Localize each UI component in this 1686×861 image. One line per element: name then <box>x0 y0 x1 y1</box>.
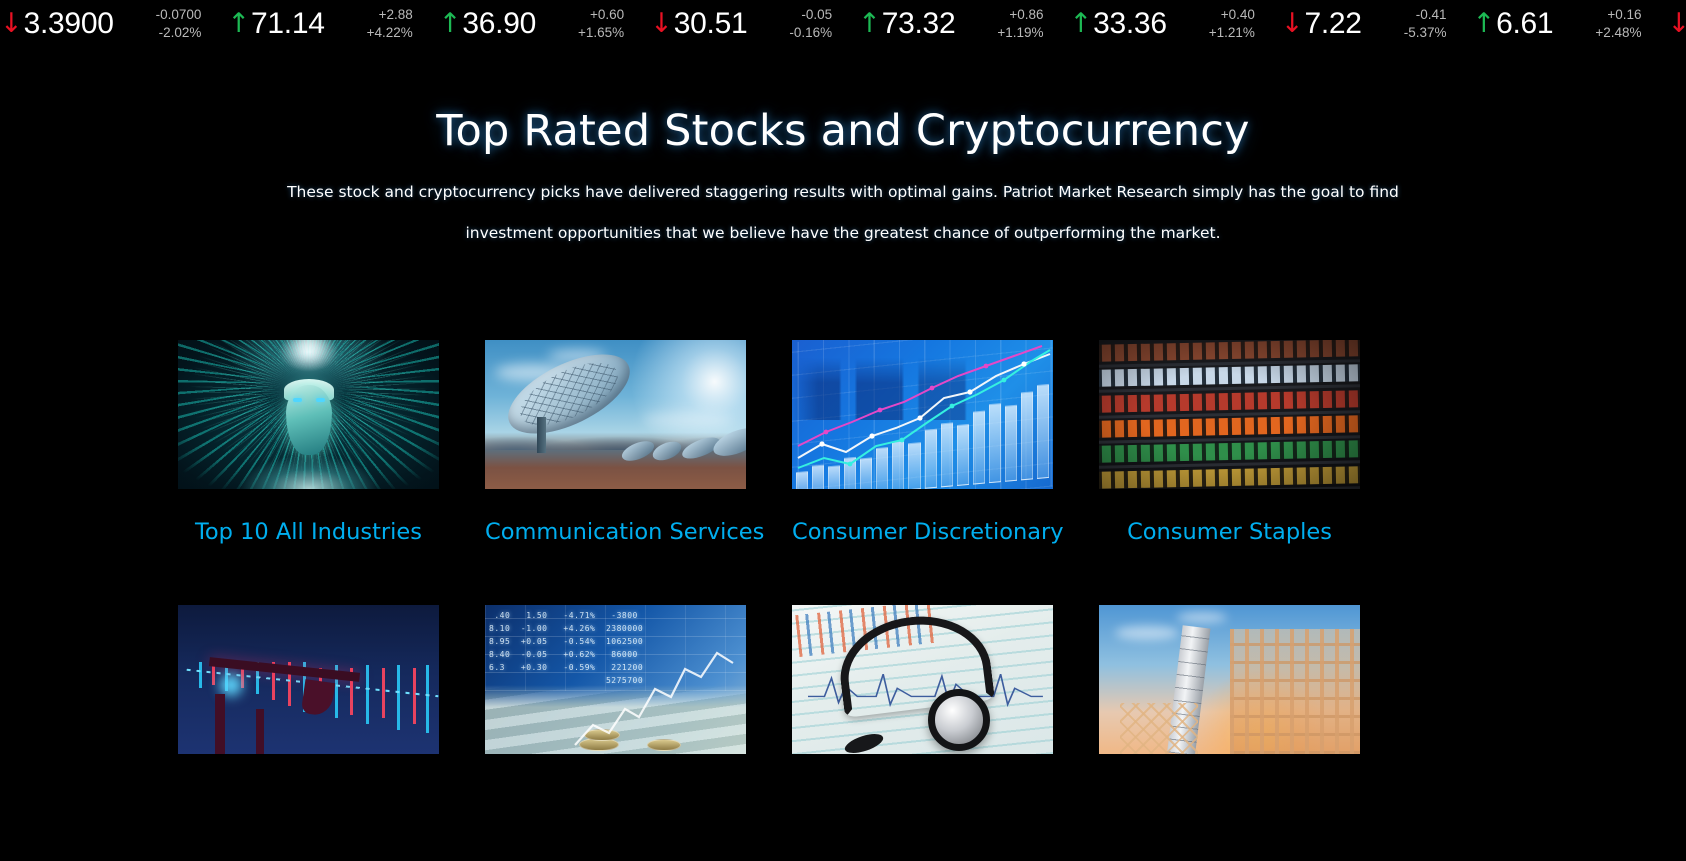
ticker-item[interactable]: ↑ 6.61 <box>1472 0 1553 47</box>
category-card-consumer-discretionary[interactable]: Consumer Discretionary <box>792 340 1053 546</box>
ai-robot-head-image[interactable] <box>178 340 439 489</box>
category-card-label[interactable]: Top 10 All Industries <box>178 519 439 546</box>
ticker-change: +0.40 <box>1221 6 1255 24</box>
up-arrow-icon: ↑ <box>439 10 462 37</box>
ticker-change-block: +0.86 +1.19% <box>997 6 1043 42</box>
chart-lines <box>792 340 1053 489</box>
ticker-change: -0.41 <box>1416 6 1447 24</box>
category-card-top-10-all-industries[interactable]: Top 10 All Industries <box>178 340 439 546</box>
ticker-percent: +4.22% <box>367 24 413 42</box>
category-card-energy[interactable] <box>178 605 439 784</box>
ticker-percent: -2.02% <box>159 24 202 42</box>
category-card-health-care[interactable] <box>792 605 1053 784</box>
ticker-percent: +1.19% <box>997 24 1043 42</box>
ticker-price: 3.3900 <box>24 9 114 39</box>
ticker-price: 73.32 <box>882 9 956 39</box>
ticker-price: 6.61 <box>1496 9 1553 39</box>
page-subtitle-line-2: investment opportunities that we believe… <box>0 213 1686 254</box>
satellite-dishes-image[interactable] <box>485 340 746 489</box>
financial-board-money-image[interactable]: .40 1.50 -4.71% -3800 8.10 -1.00 +4.26% … <box>485 605 746 754</box>
ticker-change: -0.0700 <box>156 6 202 24</box>
page-subtitle-line-1: These stock and cryptocurrency picks hav… <box>0 172 1686 213</box>
ticker-percent: +1.21% <box>1209 24 1255 42</box>
market-ticker-bar[interactable]: ↓ 3.3900 -0.0700 -2.02% ↑ 71.14 +2.88 +4… <box>0 0 1686 47</box>
category-card-label[interactable]: Communication Services <box>485 519 746 546</box>
ticker-item[interactable]: ↑ 36.90 <box>439 0 536 47</box>
down-arrow-icon: ↓ <box>0 10 23 37</box>
ticker-price: 7.22 <box>1305 9 1362 39</box>
ticker-item[interactable]: ↓ 7.22 <box>1281 0 1362 47</box>
ticker-change: -0.05 <box>801 6 832 24</box>
up-arrow-icon: ↑ <box>1070 10 1093 37</box>
ticker-change-block: -0.0700 -2.02% <box>156 6 202 42</box>
ticker-percent: +2.48% <box>1595 24 1641 42</box>
category-card-industrials[interactable] <box>1099 605 1360 784</box>
down-arrow-icon: ↓ <box>1281 10 1304 37</box>
ticker-change-block: +0.40 +1.21% <box>1209 6 1255 42</box>
ticker-percent: -0.16% <box>789 24 832 42</box>
supermarket-shelves-image[interactable] <box>1099 340 1360 489</box>
ticker-price: 33.36 <box>1093 9 1167 39</box>
category-card-label[interactable]: Consumer Discretionary <box>792 519 1053 546</box>
overlay-line-graph <box>485 605 746 754</box>
page-subtitle: These stock and cryptocurrency picks hav… <box>0 172 1686 254</box>
ticker-percent: -5.37% <box>1404 24 1447 42</box>
ticker-change: +0.16 <box>1607 6 1641 24</box>
category-card-communication-services[interactable]: Communication Services <box>485 340 746 546</box>
down-arrow-icon: ↓ <box>650 10 673 37</box>
ticker-item[interactable]: ↓ 15. <box>1667 0 1686 47</box>
category-card-grid: Top 10 All Industries Communication Serv… <box>178 340 1362 843</box>
ticker-percent: +1.65% <box>578 24 624 42</box>
ticker-item[interactable]: ↓ 3.3900 <box>0 0 114 47</box>
ticker-change-block: +0.16 +2.48% <box>1595 6 1641 42</box>
ticker-change-block: +0.60 +1.65% <box>578 6 624 42</box>
ticker-price: 30.51 <box>674 9 748 39</box>
category-card-financials[interactable]: .40 1.50 -4.71% -3800 8.10 -1.00 +4.26% … <box>485 605 746 784</box>
up-arrow-icon: ↑ <box>227 10 250 37</box>
up-arrow-icon: ↑ <box>858 10 881 37</box>
ticker-change-block: -0.05 -0.16% <box>789 6 832 42</box>
ticker-change: +2.88 <box>379 6 413 24</box>
up-arrow-icon: ↑ <box>1472 10 1495 37</box>
ticker-price: 36.90 <box>462 9 536 39</box>
down-arrow-icon: ↓ <box>1667 10 1686 37</box>
category-card-label[interactable]: Consumer Staples <box>1099 519 1360 546</box>
ticker-item[interactable]: ↑ 73.32 <box>858 0 955 47</box>
stethoscope-charts-image[interactable] <box>792 605 1053 754</box>
category-card-consumer-staples[interactable]: Consumer Staples <box>1099 340 1360 546</box>
ticker-price: 71.14 <box>251 9 325 39</box>
ticker-change: +0.60 <box>590 6 624 24</box>
ticker-change-block: -0.41 -5.37% <box>1404 6 1447 42</box>
ticker-item[interactable]: ↑ 33.36 <box>1070 0 1167 47</box>
ticker-change-block: +2.88 +4.22% <box>367 6 413 42</box>
refinery-towers-image[interactable] <box>1099 605 1360 754</box>
ticker-change: +0.86 <box>1009 6 1043 24</box>
ticker-item[interactable]: ↓ 30.51 <box>650 0 747 47</box>
page-title: Top Rated Stocks and Cryptocurrency <box>0 106 1686 156</box>
blue-growth-chart-image[interactable] <box>792 340 1053 489</box>
oil-pumps-candlestick-image[interactable] <box>178 605 439 754</box>
ticker-item[interactable]: ↑ 71.14 <box>227 0 324 47</box>
